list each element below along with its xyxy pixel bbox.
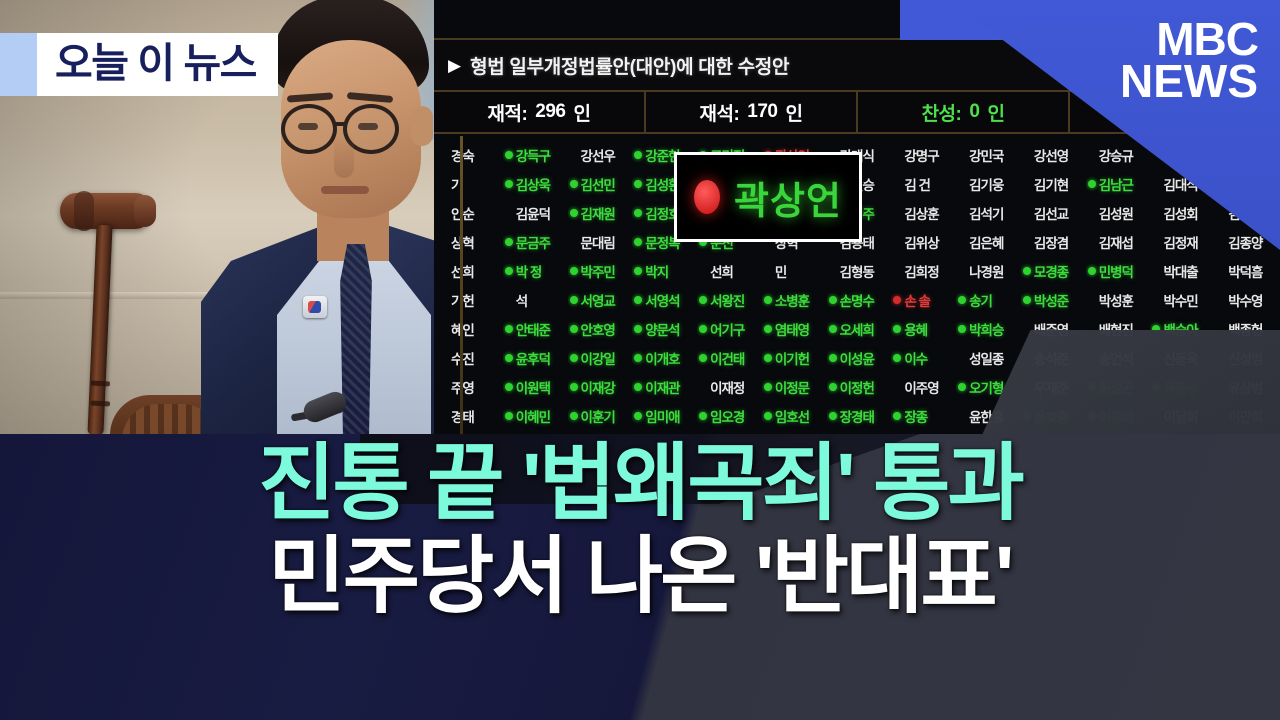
member-vote-cell: 김윤덕 bbox=[503, 198, 568, 227]
yes-vote-dot-icon bbox=[570, 296, 578, 304]
member-name: 이기헌 bbox=[775, 348, 809, 368]
no-vote-placeholder-icon bbox=[440, 412, 448, 420]
stat-total-label: 재적: bbox=[488, 99, 528, 126]
no-vote-placeholder-icon bbox=[1023, 325, 1031, 333]
member-name: 박성준 bbox=[1034, 290, 1068, 310]
member-vote-cell: 강선영 bbox=[1021, 140, 1086, 169]
member-name: 김은혜 bbox=[969, 232, 1003, 252]
member-vote-cell: 김희정 bbox=[891, 256, 956, 285]
member-vote-cell: 상혁 bbox=[438, 227, 503, 256]
stat-total: 재적: 296 인 bbox=[434, 92, 646, 132]
member-vote-cell: 서왕진 bbox=[697, 285, 762, 314]
member-vote-cell: 김위상 bbox=[891, 227, 956, 256]
member-vote-cell: 장종 bbox=[891, 401, 956, 430]
member-vote-cell: 임호선 bbox=[762, 401, 827, 430]
logo-line-1: MBC bbox=[1120, 18, 1258, 60]
member-name: 강득구 bbox=[516, 145, 550, 165]
member-name: 박지 bbox=[645, 261, 668, 281]
stat-total-value: 296 bbox=[535, 101, 565, 123]
member-name: 김형동 bbox=[840, 261, 874, 281]
yes-vote-dot-icon bbox=[764, 354, 772, 362]
member-name: 서영교 bbox=[581, 290, 615, 310]
stat-present-value: 170 bbox=[747, 101, 777, 123]
no-vote-placeholder-icon bbox=[1088, 238, 1096, 246]
member-vote-cell: 손명수 bbox=[827, 285, 892, 314]
member-name: 김윤덕 bbox=[516, 203, 550, 223]
no-vote-placeholder-icon bbox=[699, 383, 707, 391]
yes-vote-dot-icon bbox=[570, 180, 578, 188]
member-vote-cell: 모경종 bbox=[1021, 256, 1086, 285]
lapel-pin bbox=[303, 296, 327, 318]
stat-present-unit: 인 bbox=[786, 99, 803, 126]
no-vote-placeholder-icon bbox=[1217, 296, 1225, 304]
member-vote-cell: 이재정 bbox=[697, 372, 762, 401]
member-name: 이주영 bbox=[904, 377, 938, 397]
stat-present: 재석: 170 인 bbox=[646, 92, 858, 132]
member-vote-cell: 윤후덕 bbox=[503, 343, 568, 372]
member-name: 이원택 bbox=[516, 377, 550, 397]
no-vote-indicator-icon bbox=[694, 180, 720, 214]
member-name: 이강일 bbox=[581, 348, 615, 368]
no-vote-placeholder-icon bbox=[440, 296, 448, 304]
mouth bbox=[321, 186, 369, 194]
member-vote-cell: 이기헌 bbox=[762, 343, 827, 372]
member-vote-cell: 박성준 bbox=[1021, 285, 1086, 314]
member-vote-cell: 김기현 bbox=[1021, 169, 1086, 198]
yes-vote-dot-icon bbox=[829, 412, 837, 420]
member-name: 이재강 bbox=[581, 377, 615, 397]
member-vote-cell: 박희승 bbox=[956, 314, 1021, 343]
yes-vote-dot-icon bbox=[829, 296, 837, 304]
member-name: 석 bbox=[516, 290, 527, 310]
yes-vote-dot-icon bbox=[634, 412, 642, 420]
member-name: 염태영 bbox=[775, 319, 809, 339]
no-vote-placeholder-icon bbox=[1023, 151, 1031, 159]
member-vote-cell: 김성회 bbox=[1150, 198, 1215, 227]
yes-vote-dot-icon bbox=[634, 151, 642, 159]
member-vote-cell: 문대림 bbox=[568, 227, 633, 256]
member-name: 김기현 bbox=[1034, 174, 1068, 194]
member-vote-cell: 이정문 bbox=[762, 372, 827, 401]
yes-vote-dot-icon bbox=[829, 383, 837, 391]
member-vote-cell: 경숙 bbox=[438, 140, 503, 169]
no-vote-placeholder-icon bbox=[570, 151, 578, 159]
member-name: 박덕흠 bbox=[1228, 261, 1262, 281]
nose bbox=[334, 136, 354, 178]
member-name: 윤후덕 bbox=[516, 348, 550, 368]
yes-vote-dot-icon bbox=[1088, 267, 1096, 275]
no-vote-placeholder-icon bbox=[893, 238, 901, 246]
member-name: 장종 bbox=[904, 406, 927, 426]
member-name: 서왕진 bbox=[710, 290, 744, 310]
member-vote-cell: 김재섭 bbox=[1086, 227, 1151, 256]
yes-vote-dot-icon bbox=[505, 180, 513, 188]
yes-vote-dot-icon bbox=[1088, 180, 1096, 188]
yes-vote-dot-icon bbox=[570, 354, 578, 362]
member-vote-cell: 김성원 bbox=[1086, 198, 1151, 227]
no-vote-placeholder-icon bbox=[1023, 209, 1031, 217]
member-vote-cell: 김형동 bbox=[827, 256, 892, 285]
member-vote-cell: 기헌 bbox=[438, 285, 503, 314]
member-vote-cell: 김재원 bbox=[568, 198, 633, 227]
yes-vote-dot-icon bbox=[634, 267, 642, 275]
member-vote-cell: 선희 bbox=[697, 256, 762, 285]
member-vote-cell: 성일종 bbox=[956, 343, 1021, 372]
no-vote-placeholder-icon bbox=[1152, 238, 1160, 246]
member-vote-cell: 이재관 bbox=[632, 372, 697, 401]
member-vote-cell: 박수민 bbox=[1150, 285, 1215, 314]
member-name: 문대림 bbox=[581, 232, 615, 252]
member-vote-cell: 오세희 bbox=[827, 314, 892, 343]
member-name: 김성회 bbox=[1163, 203, 1197, 223]
member-name: 김장겸 bbox=[1034, 232, 1068, 252]
program-badge-label: 오늘 이 뉴스 bbox=[55, 43, 256, 84]
member-vote-cell: 이혜민 bbox=[503, 401, 568, 430]
yes-vote-dot-icon bbox=[570, 383, 578, 391]
member-name: 이개호 bbox=[645, 348, 679, 368]
member-vote-cell: 안호영 bbox=[568, 314, 633, 343]
yes-vote-dot-icon bbox=[570, 412, 578, 420]
play-triangle-icon: ▶ bbox=[448, 57, 461, 74]
member-vote-cell: 김선교 bbox=[1021, 198, 1086, 227]
no-vote-placeholder-icon bbox=[1152, 209, 1160, 217]
yes-vote-dot-icon bbox=[505, 325, 513, 333]
no-vote-placeholder-icon bbox=[958, 238, 966, 246]
no-vote-placeholder-icon bbox=[1023, 180, 1031, 188]
member-vote-cell: 선희 bbox=[438, 256, 503, 285]
member-name: 손 솔 bbox=[904, 290, 930, 310]
yes-vote-dot-icon bbox=[1023, 296, 1031, 304]
yes-vote-dot-icon bbox=[958, 296, 966, 304]
no-vote-placeholder-icon bbox=[893, 180, 901, 188]
no-vote-placeholder-icon bbox=[1152, 296, 1160, 304]
member-vote-cell: 김상훈 bbox=[891, 198, 956, 227]
program-badge-plate: 오늘 이 뉴스 bbox=[37, 33, 278, 96]
stat-yes-unit: 인 bbox=[987, 99, 1004, 126]
headline-block: 진통 끝 '법왜곡죄' 통과 민주당서 나온 '반대표' bbox=[0, 440, 1280, 621]
yes-vote-dot-icon bbox=[634, 354, 642, 362]
member-name: 김상욱 bbox=[516, 174, 550, 194]
member-name: 박주민 bbox=[581, 261, 615, 281]
member-vote-cell: 강명구 bbox=[891, 140, 956, 169]
member-vote-cell: 박 정 bbox=[503, 256, 568, 285]
no-vote-placeholder-icon bbox=[505, 296, 513, 304]
no-vote-placeholder-icon bbox=[1152, 180, 1160, 188]
yes-vote-dot-icon bbox=[634, 325, 642, 333]
yes-vote-dot-icon bbox=[699, 296, 707, 304]
member-vote-cell: 어기구 bbox=[697, 314, 762, 343]
member-name: 김희정 bbox=[904, 261, 938, 281]
bill-title: 형법 일부개정법률안(대안)에 대한 수정안 bbox=[470, 52, 789, 79]
yes-vote-dot-icon bbox=[505, 238, 513, 246]
member-vote-cell: 석 bbox=[503, 285, 568, 314]
member-name: 이훈기 bbox=[581, 406, 615, 426]
stat-yes: 찬성: 0 인 bbox=[858, 92, 1070, 132]
member-vote-cell: 이정헌 bbox=[827, 372, 892, 401]
member-name: 양문석 bbox=[645, 319, 679, 339]
member-name: 용혜 bbox=[904, 319, 927, 339]
ear bbox=[411, 106, 433, 146]
member-vote-cell: 용혜 bbox=[891, 314, 956, 343]
member-name: 이혜민 bbox=[516, 406, 550, 426]
member-vote-cell: 이재강 bbox=[568, 372, 633, 401]
yes-vote-dot-icon bbox=[1023, 267, 1031, 275]
member-vote-cell: 김선민 bbox=[568, 169, 633, 198]
no-vote-placeholder-icon bbox=[958, 412, 966, 420]
no-vote-placeholder-icon bbox=[1152, 267, 1160, 275]
member-name: 민병덕 bbox=[1099, 261, 1133, 281]
no-vote-placeholder-icon bbox=[1217, 267, 1225, 275]
yes-vote-dot-icon bbox=[764, 296, 772, 304]
no-vote-placeholder-icon bbox=[440, 180, 448, 188]
member-vote-cell: 박수영 bbox=[1215, 285, 1280, 314]
member-vote-cell: 나경원 bbox=[956, 256, 1021, 285]
no-vote-placeholder-icon bbox=[958, 180, 966, 188]
yes-vote-dot-icon bbox=[570, 325, 578, 333]
program-badge-accent bbox=[0, 33, 37, 96]
member-vote-cell: 박대출 bbox=[1150, 256, 1215, 285]
yes-vote-dot-icon bbox=[634, 209, 642, 217]
member-name: 박대출 bbox=[1163, 261, 1197, 281]
member-name: 박수민 bbox=[1163, 290, 1197, 310]
gavel-ring bbox=[91, 401, 110, 407]
member-name: 성일종 bbox=[969, 348, 1003, 368]
yes-vote-dot-icon bbox=[570, 209, 578, 217]
yes-vote-dot-icon bbox=[893, 354, 901, 362]
member-vote-cell: 서영석 bbox=[632, 285, 697, 314]
no-vote-placeholder-icon bbox=[764, 267, 772, 275]
member-vote-cell: 소병훈 bbox=[762, 285, 827, 314]
member-name: 박 정 bbox=[516, 261, 542, 281]
yes-vote-dot-icon bbox=[699, 354, 707, 362]
member-vote-cell: 김장겸 bbox=[1021, 227, 1086, 256]
member-name: 김기웅 bbox=[969, 174, 1003, 194]
member-vote-cell: 강득구 bbox=[503, 140, 568, 169]
no-vote-placeholder-icon bbox=[699, 267, 707, 275]
member-name: 강선영 bbox=[1034, 145, 1068, 165]
no-vote-placeholder-icon bbox=[829, 267, 837, 275]
yes-vote-dot-icon bbox=[570, 267, 578, 275]
no-vote-placeholder-icon bbox=[440, 354, 448, 362]
no-vote-placeholder-icon bbox=[440, 383, 448, 391]
no-vote-placeholder-icon bbox=[893, 383, 901, 391]
no-vote-placeholder-icon bbox=[440, 238, 448, 246]
stat-yes-value: 0 bbox=[969, 101, 979, 123]
member-name: 이건태 bbox=[710, 348, 744, 368]
member-vote-cell: 이강일 bbox=[568, 343, 633, 372]
program-badge: 오늘 이 뉴스 bbox=[0, 33, 278, 96]
member-vote-cell: 임미애 bbox=[632, 401, 697, 430]
headline-line-1: 진통 끝 '법왜곡죄' 통과 bbox=[0, 440, 1280, 527]
member-name: 강명구 bbox=[904, 145, 938, 165]
member-name: 안호영 bbox=[581, 319, 615, 339]
no-vote-placeholder-icon bbox=[570, 238, 578, 246]
member-name: 임미애 bbox=[645, 406, 679, 426]
member-name: 선희 bbox=[710, 261, 733, 281]
member-name: 모경종 bbox=[1034, 261, 1068, 281]
no-vote-placeholder-icon bbox=[1217, 238, 1225, 246]
stat-total-unit: 인 bbox=[574, 99, 591, 126]
member-vote-cell: 이주영 bbox=[891, 372, 956, 401]
yes-vote-dot-icon bbox=[634, 180, 642, 188]
member-name: 김성원 bbox=[1099, 203, 1133, 223]
member-vote-cell: 김남근 bbox=[1086, 169, 1151, 198]
yes-vote-dot-icon bbox=[764, 325, 772, 333]
yes-vote-dot-icon bbox=[505, 412, 513, 420]
member-vote-cell: 이성윤 bbox=[827, 343, 892, 372]
no-vote-placeholder-icon bbox=[958, 354, 966, 362]
member-name: 이정문 bbox=[775, 377, 809, 397]
member-vote-cell: 송기 bbox=[956, 285, 1021, 314]
member-name: 김남근 bbox=[1099, 174, 1133, 194]
member-name: 송기 bbox=[969, 290, 992, 310]
member-name: 박성훈 bbox=[1099, 290, 1133, 310]
eyeglasses-bridge bbox=[336, 122, 346, 126]
member-name: 오세희 bbox=[840, 319, 874, 339]
member-name: 장경태 bbox=[840, 406, 874, 426]
no-vote-placeholder-icon bbox=[893, 209, 901, 217]
member-name: 손명수 bbox=[840, 290, 874, 310]
member-vote-cell: 장경태 bbox=[827, 401, 892, 430]
yes-vote-dot-icon bbox=[505, 354, 513, 362]
member-name: 나경원 bbox=[969, 261, 1003, 281]
yes-vote-dot-icon bbox=[699, 412, 707, 420]
no-vote-placeholder-icon bbox=[1088, 296, 1096, 304]
logo-line-2: NEWS bbox=[1120, 60, 1258, 102]
member-vote-cell: 인순 bbox=[438, 198, 503, 227]
member-name: 강민국 bbox=[969, 145, 1003, 165]
highlighted-member-name: 곽상언 bbox=[734, 170, 842, 225]
no-vote-placeholder-icon bbox=[440, 151, 448, 159]
member-vote-cell: 김 건 bbox=[891, 169, 956, 198]
no-vote-placeholder-icon bbox=[440, 325, 448, 333]
member-vote-cell: 임오경 bbox=[697, 401, 762, 430]
yes-vote-dot-icon bbox=[634, 296, 642, 304]
member-vote-cell: 서영교 bbox=[568, 285, 633, 314]
member-name: 박희승 bbox=[969, 319, 1003, 339]
stat-present-label: 재석: bbox=[700, 99, 740, 126]
member-vote-cell: 박덕흠 bbox=[1215, 256, 1280, 285]
member-name: 김재섭 bbox=[1099, 232, 1133, 252]
member-name: 이성윤 bbox=[840, 348, 874, 368]
member-vote-cell: 강선우 bbox=[568, 140, 633, 169]
member-vote-cell: 민병덕 bbox=[1086, 256, 1151, 285]
no-vote-placeholder-icon bbox=[893, 267, 901, 275]
no-vote-placeholder-icon bbox=[1088, 209, 1096, 217]
member-vote-cell: 김정재 bbox=[1150, 227, 1215, 256]
no-vote-placeholder-icon bbox=[440, 209, 448, 217]
no-vote-placeholder-icon bbox=[1088, 151, 1096, 159]
member-vote-cell: 손 솔 bbox=[891, 285, 956, 314]
yes-vote-dot-icon bbox=[505, 267, 513, 275]
eyeglasses-left-lens bbox=[281, 104, 337, 154]
yes-vote-dot-icon bbox=[764, 383, 772, 391]
gavel-head bbox=[60, 193, 152, 229]
member-name: 김상훈 bbox=[904, 203, 938, 223]
member-vote-cell: 이수 bbox=[891, 343, 956, 372]
member-vote-cell: 혜인 bbox=[438, 314, 503, 343]
member-vote-cell: 이건태 bbox=[697, 343, 762, 372]
member-name: 강승규 bbox=[1099, 145, 1133, 165]
no-vote-placeholder-icon bbox=[958, 267, 966, 275]
member-name: 김재원 bbox=[581, 203, 615, 223]
member-vote-cell: 이훈기 bbox=[568, 401, 633, 430]
member-name: 이재정 bbox=[710, 377, 744, 397]
member-vote-cell: 김기웅 bbox=[956, 169, 1021, 198]
member-name: 이정헌 bbox=[840, 377, 874, 397]
member-vote-cell: 수진 bbox=[438, 343, 503, 372]
member-name: 서영석 bbox=[645, 290, 679, 310]
no-vote-placeholder-icon bbox=[958, 209, 966, 217]
member-name: 김정재 bbox=[1163, 232, 1197, 252]
board-column-divider bbox=[460, 136, 463, 455]
member-vote-cell: 강민국 bbox=[956, 140, 1021, 169]
no-vote-placeholder-icon bbox=[1217, 209, 1225, 217]
yes-vote-dot-icon bbox=[893, 325, 901, 333]
member-vote-cell: 염태영 bbox=[762, 314, 827, 343]
yes-vote-dot-icon bbox=[505, 151, 513, 159]
member-name: 김선민 bbox=[581, 174, 615, 194]
member-name: 소병훈 bbox=[775, 290, 809, 310]
no-vote-placeholder-icon bbox=[958, 151, 966, 159]
member-vote-cell: 문금주 bbox=[503, 227, 568, 256]
member-vote-cell: 민 bbox=[762, 256, 827, 285]
stat-yes-label: 찬성: bbox=[922, 99, 962, 126]
no-vote-placeholder-icon bbox=[893, 151, 901, 159]
member-vote-cell: 기 bbox=[438, 169, 503, 198]
member-name: 이수 bbox=[904, 348, 927, 368]
yes-vote-dot-icon bbox=[634, 238, 642, 246]
member-name: 오기형 bbox=[969, 377, 1003, 397]
headline-line-2: 민주당서 나온 '반대표' bbox=[0, 533, 1280, 620]
member-name: 김종양 bbox=[1228, 232, 1262, 252]
yes-vote-dot-icon bbox=[958, 325, 966, 333]
member-vote-cell: 김은혜 bbox=[956, 227, 1021, 256]
member-vote-cell: 양문석 bbox=[632, 314, 697, 343]
no-vote-placeholder-icon bbox=[505, 209, 513, 217]
yes-vote-dot-icon bbox=[893, 412, 901, 420]
yes-vote-dot-icon bbox=[699, 325, 707, 333]
member-name: 문금주 bbox=[516, 232, 550, 252]
member-vote-cell: 주영 bbox=[438, 372, 503, 401]
member-name: 강선우 bbox=[581, 145, 615, 165]
member-name: 임오경 bbox=[710, 406, 744, 426]
broadcast-screenshot: ▶ 형법 일부개정법률안(대안)에 대한 수정안 재적: 296 인 재석: 1… bbox=[0, 0, 1280, 720]
member-name: 이재관 bbox=[645, 377, 679, 397]
member-name: 어기구 bbox=[710, 319, 744, 339]
mbc-news-logo: MBC NEWS bbox=[1120, 18, 1258, 103]
member-vote-cell: 박주민 bbox=[568, 256, 633, 285]
member-vote-cell: 안태준 bbox=[503, 314, 568, 343]
yes-vote-dot-icon bbox=[829, 354, 837, 362]
member-vote-cell: 이원택 bbox=[503, 372, 568, 401]
no-vote-placeholder-icon bbox=[1023, 238, 1031, 246]
member-vote-cell: 경태 bbox=[438, 401, 503, 430]
yes-vote-dot-icon bbox=[829, 325, 837, 333]
member-vote-cell: 박지 bbox=[632, 256, 697, 285]
member-name: 김위상 bbox=[904, 232, 938, 252]
no-vote-dot-icon bbox=[893, 296, 901, 304]
yes-vote-dot-icon bbox=[764, 412, 772, 420]
member-name: 민 bbox=[775, 261, 786, 281]
gavel-ring bbox=[91, 381, 110, 387]
member-name: 김선교 bbox=[1034, 203, 1068, 223]
member-vote-cell: 이개호 bbox=[632, 343, 697, 372]
member-name: 박수영 bbox=[1228, 290, 1262, 310]
member-vote-cell: 박성훈 bbox=[1086, 285, 1151, 314]
member-name: 김석기 bbox=[969, 203, 1003, 223]
yes-vote-dot-icon bbox=[634, 383, 642, 391]
